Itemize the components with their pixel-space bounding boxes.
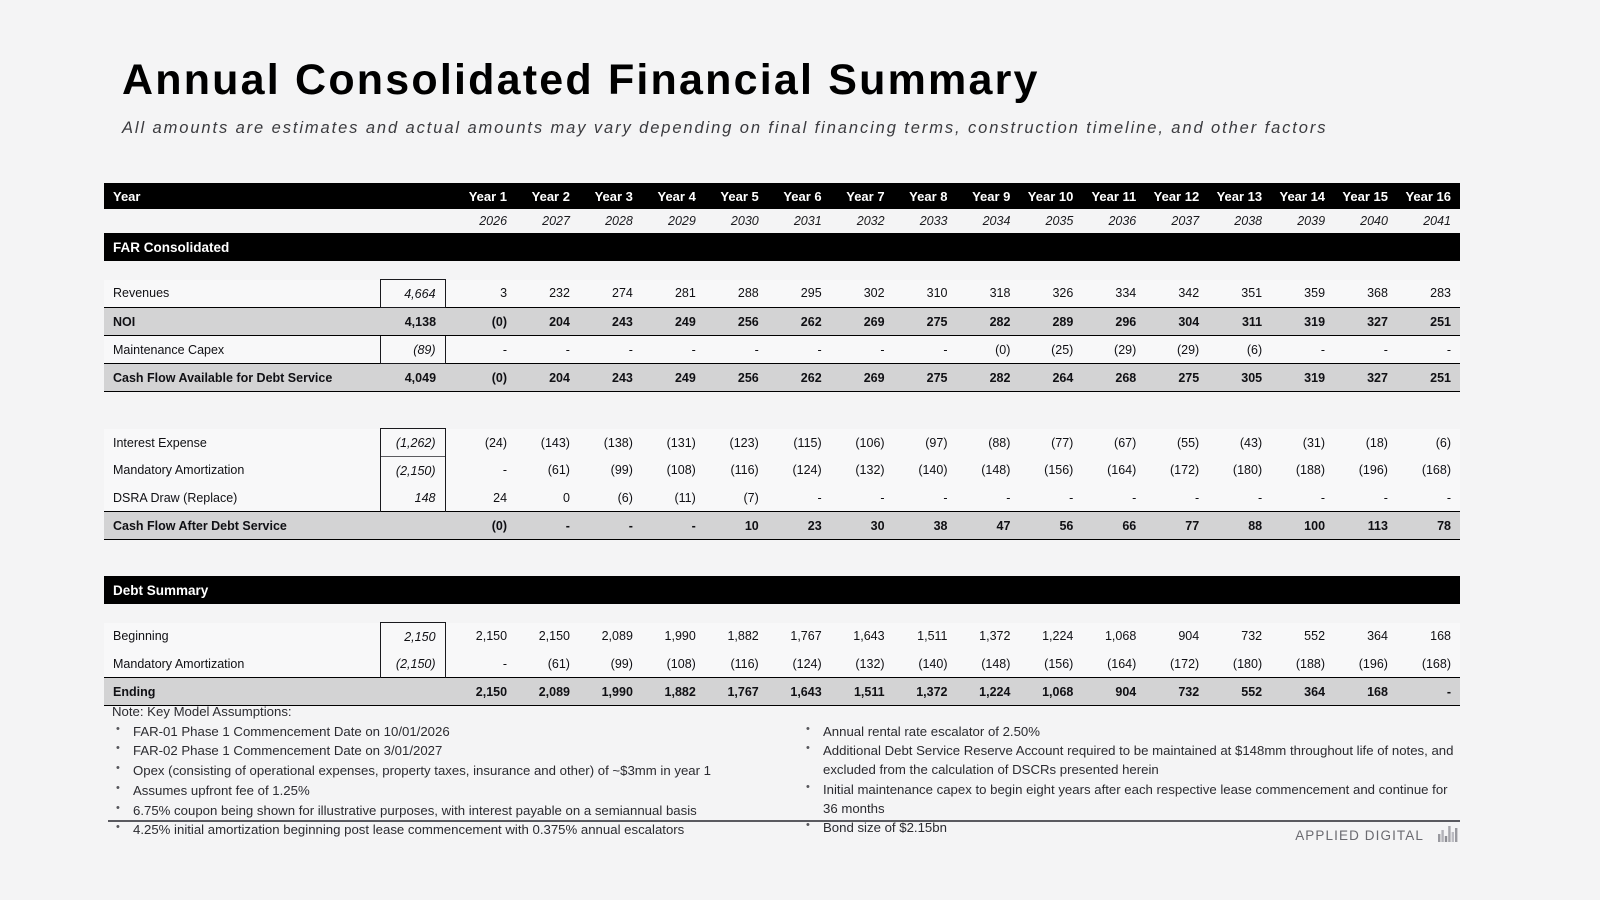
note-item-left-1: FAR-01 Phase 1 Commencement Date on 10/0… [108,723,770,742]
row-ending-y14: 364 [1271,678,1334,706]
row-revenues-y5: 288 [705,280,768,308]
spacer-after-far-header-cell [104,261,1460,280]
row-cfads-y12: 275 [1145,364,1208,392]
row-mandatory_amortization-y1: - [453,457,516,485]
row-revenues-y8: 310 [894,280,957,308]
column-header-year-10: Year 10 [1019,183,1082,209]
spacer-after-debt-header-cell [104,604,1460,623]
row-mandatory_amortization-y6: (124) [768,457,831,485]
row-revenues-y11: 334 [1082,280,1145,308]
calendar-year-16: 2041 [1397,209,1460,233]
row-dsra_draw-y12: - [1145,484,1208,512]
column-header-year-5: Year 5 [705,183,768,209]
row-beginning-y8: 1,511 [894,623,957,651]
row-label-ending: Ending [104,678,380,706]
row-maintenance_capex-y6: - [768,336,831,364]
row-maintenance_capex-y3: - [579,336,642,364]
row-maintenance_capex-y8: - [894,336,957,364]
row-cfads_after-y8: 38 [894,512,957,540]
column-header-year-14: Year 14 [1271,183,1334,209]
row-maintenance_capex-y16: - [1397,336,1460,364]
row-debt_amortization-y16: (168) [1397,650,1460,678]
row-debt_amortization-y11: (164) [1082,650,1145,678]
section-header-debt-summary-label: Debt Summary [104,576,1460,604]
row-ending-y16: - [1397,678,1460,706]
column-header-year-12: Year 12 [1145,183,1208,209]
row-dsra_draw-y15: - [1334,484,1397,512]
row-interest_expense-y6: (115) [768,429,831,457]
row-mandatory_amortization-y8: (140) [894,457,957,485]
note-item-left-6: 4.25% initial amortization beginning pos… [108,821,770,840]
row-cfads-y9: 282 [957,364,1020,392]
calendar-year-1: 2026 [453,209,516,233]
row-mandatory_amortization-y2: (61) [516,457,579,485]
row-dsra_draw-y14: - [1271,484,1334,512]
row-maintenance_capex-y15: - [1334,336,1397,364]
calendar-year-4: 2029 [642,209,705,233]
row-cfads-y1: (0) [453,364,516,392]
row-mandatory_amortization-y9: (148) [957,457,1020,485]
row-gap-revenues [445,280,453,308]
calendar-year-12: 2037 [1145,209,1208,233]
row-revenues-y12: 342 [1145,280,1208,308]
row-dsra_draw-y11: - [1082,484,1145,512]
row-revenues-y1: 3 [453,280,516,308]
row-cfads-y8: 275 [894,364,957,392]
row-total-interest_expense: (1,262) [380,429,445,457]
row-beginning-y1: 2,150 [453,623,516,651]
row-ending-y9: 1,224 [957,678,1020,706]
row-label-interest_expense: Interest Expense [104,429,380,457]
table-row-beginning: Beginning2,1502,1502,1502,0891,9901,8821… [104,623,1460,651]
column-header-year-3: Year 3 [579,183,642,209]
row-revenues-y7: 302 [831,280,894,308]
column-header-year-2: Year 2 [516,183,579,209]
row-mandatory_amortization-y15: (196) [1334,457,1397,485]
row-total-maintenance_capex: (89) [380,336,445,364]
row-ending-y11: 904 [1082,678,1145,706]
row-interest_expense-y15: (18) [1334,429,1397,457]
row-mandatory_amortization-y14: (188) [1271,457,1334,485]
column-header-year-1: Year 1 [453,183,516,209]
row-gap-ending [445,678,453,706]
row-interest_expense-y12: (55) [1145,429,1208,457]
row-dsra_draw-y5: (7) [705,484,768,512]
table-row-debt_amortization: Mandatory Amortization(2,150)-(61)(99)(1… [104,650,1460,678]
calendar-gap [445,209,453,233]
row-mandatory_amortization-y7: (132) [831,457,894,485]
title-block: Annual Consolidated Financial Summary Al… [122,56,1482,141]
row-noi-y11: 296 [1082,308,1145,336]
row-ending-y4: 1,882 [642,678,705,706]
row-dsra_draw-y10: - [1019,484,1082,512]
row-beginning-y5: 1,882 [705,623,768,651]
row-dsra_draw-y2: 0 [516,484,579,512]
calendar-total-blank [380,209,445,233]
spacer-after-debt-header [104,604,1460,623]
row-revenues-y15: 368 [1334,280,1397,308]
row-beginning-y9: 1,372 [957,623,1020,651]
row-maintenance_capex-y11: (29) [1082,336,1145,364]
row-debt_amortization-y3: (99) [579,650,642,678]
section-header-far-consolidated: FAR Consolidated [104,233,1460,261]
calendar-year-2: 2027 [516,209,579,233]
row-revenues-y4: 281 [642,280,705,308]
note-item-right-3: Initial maintenance capex to begin eight… [798,781,1460,818]
row-mandatory_amortization-y13: (180) [1208,457,1271,485]
financial-table-wrapper: YearYear 1Year 2Year 3Year 4Year 5Year 6… [104,183,1460,706]
column-header-year-13: Year 13 [1208,183,1271,209]
row-dsra_draw-y8: - [894,484,957,512]
row-interest_expense-y10: (77) [1019,429,1082,457]
row-label-cfads_after: Cash Flow After Debt Service [104,512,380,540]
row-ending-y1: 2,150 [453,678,516,706]
row-dsra_draw-y1: 24 [453,484,516,512]
row-ending-y10: 1,068 [1019,678,1082,706]
row-label-debt_amortization: Mandatory Amortization [104,650,380,678]
row-mandatory_amortization-y12: (172) [1145,457,1208,485]
row-ending-y5: 1,767 [705,678,768,706]
row-noi-y1: (0) [453,308,516,336]
row-debt_amortization-y5: (116) [705,650,768,678]
row-interest_expense-y4: (131) [642,429,705,457]
row-interest_expense-y1: (24) [453,429,516,457]
row-cfads_after-y7: 30 [831,512,894,540]
row-revenues-y9: 318 [957,280,1020,308]
notes-heading: Note: Key Model Assumptions: [112,703,770,722]
row-debt_amortization-y1: - [453,650,516,678]
row-cfads-y10: 264 [1019,364,1082,392]
row-total-cfads: 4,049 [380,364,445,392]
note-item-right-2: Additional Debt Service Reserve Account … [798,742,1460,779]
row-total-cfads_after [380,512,445,540]
row-noi-y7: 269 [831,308,894,336]
spacer-between-blocks-cell [104,392,1460,429]
slide-canvas: Annual Consolidated Financial Summary Al… [0,0,1600,900]
row-maintenance_capex-y5: - [705,336,768,364]
row-cfads-y14: 319 [1271,364,1334,392]
calendar-year-13: 2038 [1208,209,1271,233]
row-noi-y8: 275 [894,308,957,336]
row-noi-y6: 262 [768,308,831,336]
row-debt_amortization-y8: (140) [894,650,957,678]
row-label-beginning: Beginning [104,623,380,651]
row-maintenance_capex-y4: - [642,336,705,364]
row-mandatory_amortization-y10: (156) [1019,457,1082,485]
row-cfads-y16: 251 [1397,364,1460,392]
row-noi-y10: 289 [1019,308,1082,336]
row-ending-y8: 1,372 [894,678,957,706]
row-gap-interest_expense [445,429,453,457]
calendar-year-15: 2040 [1334,209,1397,233]
row-revenues-y6: 295 [768,280,831,308]
row-gap-noi [445,308,453,336]
row-revenues-y16: 283 [1397,280,1460,308]
applied-digital-logo-icon [1438,824,1460,847]
header-gap [445,183,453,209]
column-header-year-8: Year 8 [894,183,957,209]
row-interest_expense-y3: (138) [579,429,642,457]
row-debt_amortization-y15: (196) [1334,650,1397,678]
row-ending-y12: 732 [1145,678,1208,706]
column-header-year-16: Year 16 [1397,183,1460,209]
row-ending-y6: 1,643 [768,678,831,706]
table-row-cfads: Cash Flow Available for Debt Service4,04… [104,364,1460,392]
calendar-year-6: 2031 [768,209,831,233]
row-cfads_after-y10: 56 [1019,512,1082,540]
row-cfads_after-y14: 100 [1271,512,1334,540]
row-cfads_after-y11: 66 [1082,512,1145,540]
section-header-far-consolidated-label: FAR Consolidated [104,233,1460,261]
row-dsra_draw-y3: (6) [579,484,642,512]
row-interest_expense-y5: (123) [705,429,768,457]
row-noi-y16: 251 [1397,308,1460,336]
row-mandatory_amortization-y11: (164) [1082,457,1145,485]
brand-name: APPLIED DIGITAL [1295,828,1424,843]
row-label-maintenance_capex: Maintenance Capex [104,336,380,364]
row-mandatory_amortization-y5: (116) [705,457,768,485]
row-dsra_draw-y13: - [1208,484,1271,512]
row-gap-mandatory_amortization [445,457,453,485]
row-revenues-y13: 351 [1208,280,1271,308]
row-beginning-y2: 2,150 [516,623,579,651]
spacer-between-blocks [104,392,1460,429]
header-total-blank [380,183,445,209]
row-dsra_draw-y4: (11) [642,484,705,512]
row-interest_expense-y14: (31) [1271,429,1334,457]
calendar-year-7: 2032 [831,209,894,233]
row-maintenance_capex-y10: (25) [1019,336,1082,364]
row-debt_amortization-y12: (172) [1145,650,1208,678]
row-cfads_after-y6: 23 [768,512,831,540]
row-total-noi: 4,138 [380,308,445,336]
table-row-dsra_draw: DSRA Draw (Replace)148240(6)(11)(7)-----… [104,484,1460,512]
row-cfads-y11: 268 [1082,364,1145,392]
row-debt_amortization-y6: (124) [768,650,831,678]
row-beginning-y15: 364 [1334,623,1397,651]
row-cfads-y13: 305 [1208,364,1271,392]
row-total-debt_amortization: (2,150) [380,650,445,678]
column-header-year-15: Year 15 [1334,183,1397,209]
row-interest_expense-y2: (143) [516,429,579,457]
page-title: Annual Consolidated Financial Summary [122,56,1482,104]
row-maintenance_capex-y13: (6) [1208,336,1271,364]
row-gap-dsra_draw [445,484,453,512]
row-dsra_draw-y6: - [768,484,831,512]
row-maintenance_capex-y7: - [831,336,894,364]
row-beginning-y10: 1,224 [1019,623,1082,651]
row-gap-cfads_after [445,512,453,540]
row-cfads_after-y2: - [516,512,579,540]
row-noi-y15: 327 [1334,308,1397,336]
row-mandatory_amortization-y3: (99) [579,457,642,485]
row-ending-y7: 1,511 [831,678,894,706]
row-beginning-y3: 2,089 [579,623,642,651]
row-debt_amortization-y13: (180) [1208,650,1271,678]
spacer-after-far-header [104,261,1460,280]
row-cfads_after-y15: 113 [1334,512,1397,540]
row-gap-debt_amortization [445,650,453,678]
row-dsra_draw-y9: - [957,484,1020,512]
spacer-before-debt-summary [104,540,1460,577]
footer-divider [108,820,1460,822]
calendar-label-blank [104,209,380,233]
table-row-maintenance_capex: Maintenance Capex(89)--------(0)(25)(29)… [104,336,1460,364]
row-cfads-y7: 269 [831,364,894,392]
row-ending-y15: 168 [1334,678,1397,706]
financial-summary-table: YearYear 1Year 2Year 3Year 4Year 5Year 6… [104,183,1460,706]
table-row-cfads_after: Cash Flow After Debt Service(0)---102330… [104,512,1460,540]
row-total-ending [380,678,445,706]
row-interest_expense-y13: (43) [1208,429,1271,457]
column-header-year-6: Year 6 [768,183,831,209]
page-subtitle: All amounts are estimates and actual amo… [122,116,1412,141]
row-dsra_draw-y16: - [1397,484,1460,512]
note-item-left-4: Assumes upfront fee of 1.25% [108,782,770,801]
calendar-year-8: 2033 [894,209,957,233]
calendar-year-10: 2035 [1019,209,1082,233]
row-debt_amortization-y2: (61) [516,650,579,678]
note-item-left-2: FAR-02 Phase 1 Commencement Date on 3/01… [108,742,770,761]
row-cfads_after-y12: 77 [1145,512,1208,540]
table-header-row: YearYear 1Year 2Year 3Year 4Year 5Year 6… [104,183,1460,209]
row-interest_expense-y9: (88) [957,429,1020,457]
table-row-revenues: Revenues4,664323227428128829530231031832… [104,280,1460,308]
row-debt_amortization-y10: (156) [1019,650,1082,678]
row-noi-y4: 249 [642,308,705,336]
row-cfads-y6: 262 [768,364,831,392]
row-cfads-y4: 249 [642,364,705,392]
row-cfads-y5: 256 [705,364,768,392]
footer-brand: APPLIED DIGITAL [1295,824,1460,847]
column-header-year-11: Year 11 [1082,183,1145,209]
row-cfads_after-y9: 47 [957,512,1020,540]
row-beginning-y6: 1,767 [768,623,831,651]
row-cfads-y3: 243 [579,364,642,392]
row-label-mandatory_amortization: Mandatory Amortization [104,457,380,485]
row-total-beginning: 2,150 [380,623,445,651]
row-cfads_after-y13: 88 [1208,512,1271,540]
section-header-debt-summary: Debt Summary [104,576,1460,604]
row-noi-y14: 319 [1271,308,1334,336]
row-noi-y12: 304 [1145,308,1208,336]
row-gap-maintenance_capex [445,336,453,364]
row-noi-y3: 243 [579,308,642,336]
row-label-dsra_draw: DSRA Draw (Replace) [104,484,380,512]
table-row-mandatory_amortization: Mandatory Amortization(2,150)-(61)(99)(1… [104,457,1460,485]
row-label-revenues: Revenues [104,280,380,308]
row-maintenance_capex-y2: - [516,336,579,364]
column-header-year-7: Year 7 [831,183,894,209]
row-ending-y13: 552 [1208,678,1271,706]
row-gap-beginning [445,623,453,651]
calendar-year-5: 2030 [705,209,768,233]
row-maintenance_capex-y1: - [453,336,516,364]
calendar-year-14: 2039 [1271,209,1334,233]
row-label-noi: NOI [104,308,380,336]
row-noi-y5: 256 [705,308,768,336]
row-label-cfads: Cash Flow Available for Debt Service [104,364,380,392]
row-debt_amortization-y7: (132) [831,650,894,678]
row-interest_expense-y8: (97) [894,429,957,457]
row-total-revenues: 4,664 [380,280,445,308]
row-total-mandatory_amortization: (2,150) [380,457,445,485]
row-beginning-y13: 732 [1208,623,1271,651]
calendar-year-11: 2036 [1082,209,1145,233]
row-noi-y9: 282 [957,308,1020,336]
row-ending-y2: 2,089 [516,678,579,706]
calendar-year-row: 2026202720282029203020312032203320342035… [104,209,1460,233]
calendar-year-9: 2034 [957,209,1020,233]
row-maintenance_capex-y14: - [1271,336,1334,364]
row-maintenance_capex-y9: (0) [957,336,1020,364]
table-row-ending: Ending2,1502,0891,9901,8821,7671,6431,51… [104,678,1460,706]
row-cfads_after-y5: 10 [705,512,768,540]
row-beginning-y16: 168 [1397,623,1460,651]
row-gap-cfads [445,364,453,392]
row-debt_amortization-y14: (188) [1271,650,1334,678]
notes-list-left: FAR-01 Phase 1 Commencement Date on 10/0… [108,723,770,840]
row-beginning-y14: 552 [1271,623,1334,651]
row-cfads_after-y1: (0) [453,512,516,540]
row-cfads-y15: 327 [1334,364,1397,392]
row-dsra_draw-y7: - [831,484,894,512]
header-label-year: Year [104,183,380,209]
row-total-dsra_draw: 148 [380,484,445,512]
row-interest_expense-y7: (106) [831,429,894,457]
row-debt_amortization-y4: (108) [642,650,705,678]
spacer-before-debt-summary-cell [104,540,1460,577]
table-row-interest_expense: Interest Expense(1,262)(24)(143)(138)(13… [104,429,1460,457]
row-ending-y3: 1,990 [579,678,642,706]
row-beginning-y12: 904 [1145,623,1208,651]
row-beginning-y11: 1,068 [1082,623,1145,651]
row-cfads_after-y16: 78 [1397,512,1460,540]
row-interest_expense-y11: (67) [1082,429,1145,457]
table-row-noi: NOI4,138(0)20424324925626226927528228929… [104,308,1460,336]
row-maintenance_capex-y12: (29) [1145,336,1208,364]
row-cfads-y2: 204 [516,364,579,392]
row-beginning-y4: 1,990 [642,623,705,651]
row-mandatory_amortization-y4: (108) [642,457,705,485]
row-cfads_after-y3: - [579,512,642,540]
row-revenues-y3: 274 [579,280,642,308]
calendar-year-3: 2028 [579,209,642,233]
note-item-right-1: Annual rental rate escalator of 2.50% [798,723,1460,742]
row-noi-y13: 311 [1208,308,1271,336]
column-header-year-9: Year 9 [957,183,1020,209]
row-revenues-y2: 232 [516,280,579,308]
column-header-year-4: Year 4 [642,183,705,209]
note-item-left-3: Opex (consisting of operational expenses… [108,762,770,781]
row-debt_amortization-y9: (148) [957,650,1020,678]
row-revenues-y10: 326 [1019,280,1082,308]
row-interest_expense-y16: (6) [1397,429,1460,457]
row-noi-y2: 204 [516,308,579,336]
row-cfads_after-y4: - [642,512,705,540]
row-beginning-y7: 1,643 [831,623,894,651]
note-item-left-5: 6.75% coupon being shown for illustrativ… [108,802,770,821]
row-mandatory_amortization-y16: (168) [1397,457,1460,485]
row-revenues-y14: 359 [1271,280,1334,308]
